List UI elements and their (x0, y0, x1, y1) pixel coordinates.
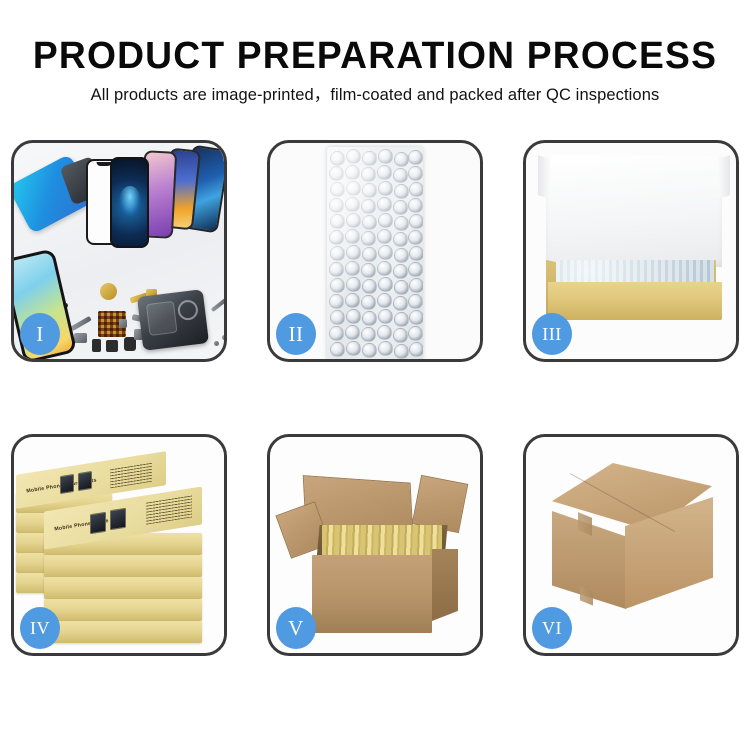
disassembled-back-housing (137, 289, 209, 351)
part-screw (222, 335, 224, 340)
step-numeral-badge-1: I (20, 313, 60, 355)
carton-front-face (312, 555, 432, 633)
bubble-wrap-sleeve (327, 147, 423, 359)
packed-yellow-boxes (322, 525, 442, 557)
bubble-wrapped-contents (556, 260, 714, 284)
process-step-grid: I II (11, 140, 739, 656)
part-screw-plate (119, 319, 127, 328)
stacked-box (44, 621, 202, 643)
stacked-box (44, 599, 202, 621)
cyan-screen-assembly (14, 154, 95, 235)
process-step-panel-5: V (267, 434, 483, 656)
process-step-panel-3: III (523, 140, 739, 362)
blue-display-phone (110, 157, 149, 248)
part-tweezer (211, 298, 224, 312)
step-numeral-badge-2: II (276, 313, 316, 355)
part-button (92, 339, 101, 352)
box-label-swatch (110, 508, 126, 531)
page-subtitle: All products are image-printed，film-coat… (0, 84, 750, 106)
step-numeral-badge-4: IV (20, 607, 60, 649)
part-screw (214, 341, 219, 346)
step-numeral-badge-5: V (276, 607, 316, 649)
box-label-swatch (78, 471, 92, 491)
part-camera-module (106, 340, 118, 352)
mailer-box-lid (546, 155, 722, 267)
mailer-box-front (548, 282, 722, 320)
box-label-swatch (90, 512, 106, 535)
stacked-box (44, 555, 202, 577)
part-metal-clip (74, 333, 87, 343)
process-step-panel-6: VI (523, 434, 739, 656)
page-header: PRODUCT PREPARATION PROCESS All products… (0, 0, 750, 106)
part-bracket (70, 316, 92, 331)
part-speaker-coil (100, 283, 117, 300)
page-title: PRODUCT PREPARATION PROCESS (8, 34, 743, 78)
box-label-swatch (60, 474, 74, 494)
step-numeral-badge-3: III (532, 313, 572, 355)
process-step-panel-1: I (11, 140, 227, 362)
process-step-panel-2: II (267, 140, 483, 362)
stacked-box (44, 577, 202, 599)
step-numeral-badge-6: VI (532, 607, 572, 649)
process-step-panel-4: Mobile Phone Spare Parts Mobile Phone Sp… (11, 434, 227, 656)
carton-right-face (432, 549, 458, 621)
